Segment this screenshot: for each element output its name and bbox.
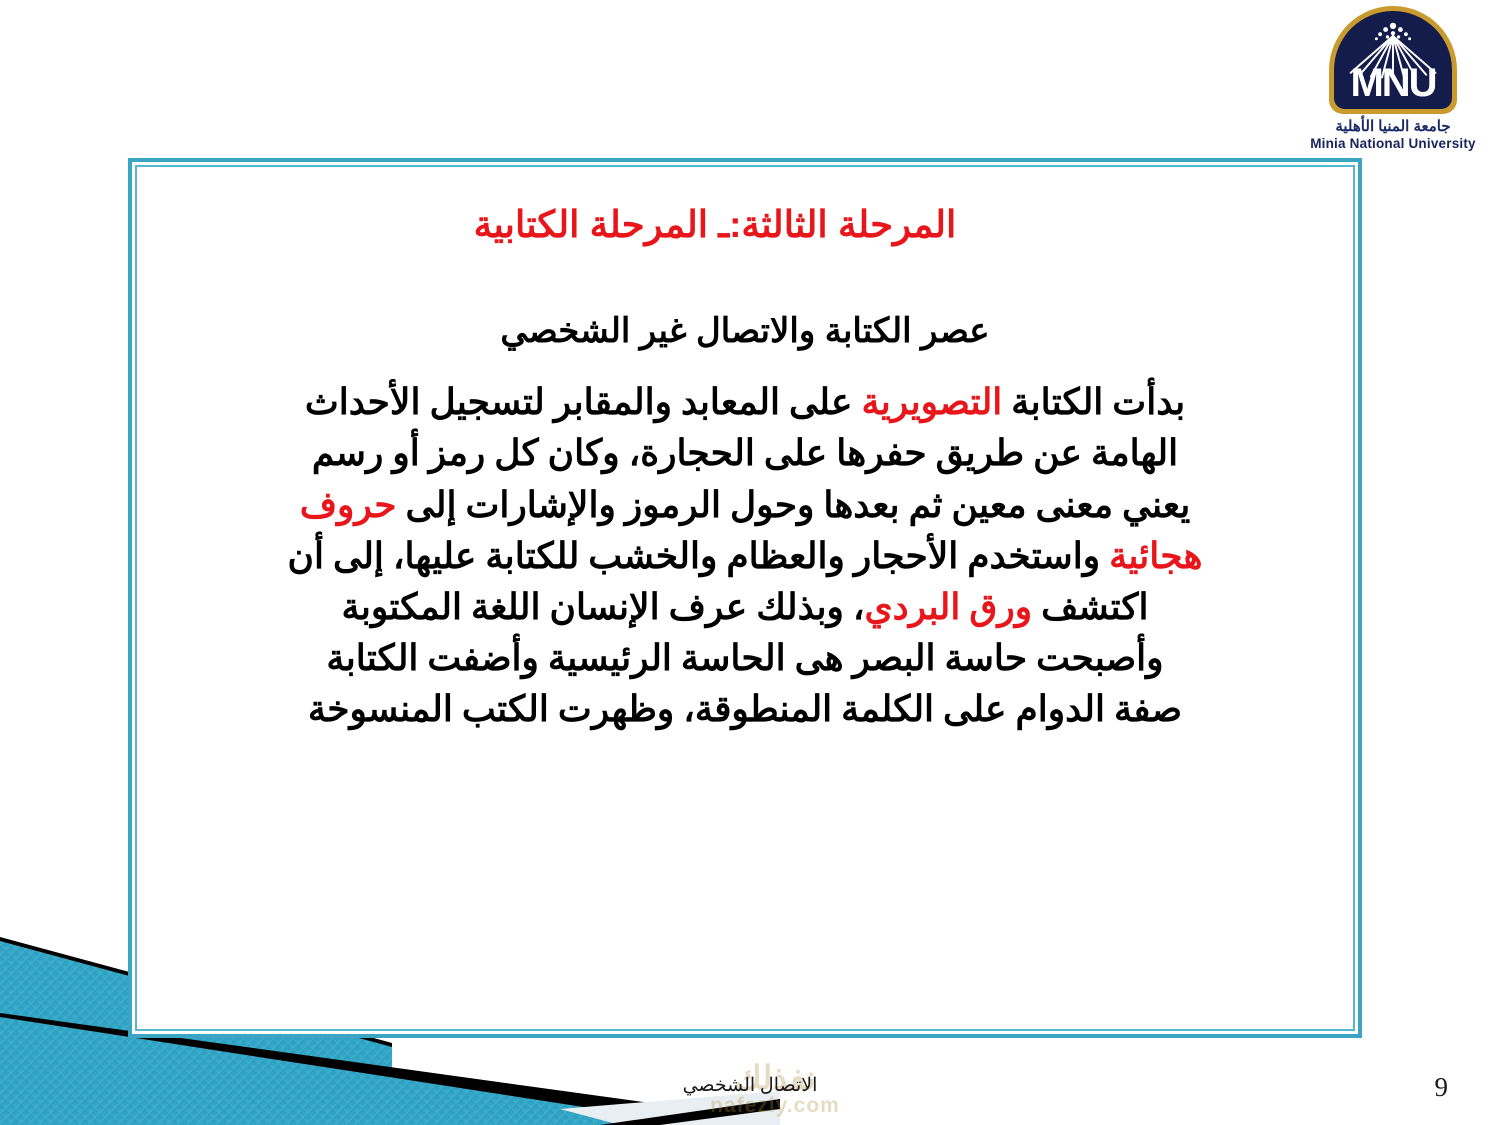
body-line: الهامة عن طريق حفرها على الحجارة، وكان ك… — [178, 428, 1312, 479]
watermark-text-english: nafezly.com — [660, 1094, 890, 1117]
body-text-run: يعني معنى معين ثم بعدها وحول الرموز والإ… — [397, 485, 1191, 525]
slide-title: المرحلة الثالثة:ـ المرحلة الكتابية — [172, 204, 1318, 247]
body-text-run: صفة الدوام على الكلمة المنطوقة، وظهرت ال… — [308, 689, 1182, 729]
body-text-run: الهامة عن طريق حفرها على الحجارة، وكان ك… — [312, 433, 1178, 473]
highlighted-term: التصويرية — [861, 382, 1002, 422]
body-text-run: على المعابد والمقابر لتسجيل الأحداث — [305, 382, 862, 422]
body-text-run: ، وبذلك عرف الإنسان اللغة المكتوبة — [342, 587, 865, 627]
university-logo: MNU جامعة المنيا الأهلية Minia National … — [1302, 6, 1484, 158]
slide-content: المرحلة الثالثة:ـ المرحلة الكتابية عصر ا… — [132, 162, 1358, 1034]
body-line: اكتشف ورق البردي، وبذلك عرف الإنسان اللغ… — [178, 582, 1312, 633]
logo-navy-field: MNU — [1334, 11, 1452, 109]
body-line: وأصبحت حاسة البصر هى الحاسة الرئيسية وأض… — [178, 633, 1312, 684]
highlighted-term: حروف — [300, 485, 397, 525]
logo-badge-shield: MNU — [1329, 6, 1457, 114]
deco-black-sliver — [600, 1099, 780, 1125]
body-text-run: بدأت الكتابة — [1002, 382, 1185, 422]
body-line: بدأت الكتابة التصويرية على المعابد والمق… — [178, 377, 1312, 428]
presentation-slide: MNU جامعة المنيا الأهلية Minia National … — [0, 0, 1500, 1125]
body-line: يعني معنى معين ثم بعدها وحول الرموز والإ… — [178, 480, 1312, 531]
logo-name-arabic: جامعة المنيا الأهلية — [1302, 117, 1484, 135]
highlighted-term: هجائية — [1109, 536, 1202, 576]
slide-body-text: بدأت الكتابة التصويرية على المعابد والمق… — [172, 377, 1318, 735]
body-line: صفة الدوام على الكلمة المنطوقة، وظهرت ال… — [178, 684, 1312, 735]
body-text-run: اكتشف — [1032, 587, 1148, 627]
slide-footer-note: الاتصال الشخصي — [0, 1074, 1500, 1097]
slide-subtitle: عصر الكتابة والاتصال غير الشخصي — [172, 311, 1318, 352]
body-text-run: واستخدم الأحجار والعظام والخشب للكتابة ع… — [288, 536, 1110, 576]
logo-name-english: Minia National University — [1302, 136, 1484, 151]
body-text-run: وأصبحت حاسة البصر هى الحاسة الرئيسية وأض… — [326, 638, 1163, 678]
body-line: هجائية واستخدم الأحجار والعظام والخشب لل… — [178, 531, 1312, 582]
slide-page-number: 9 — [1435, 1072, 1449, 1103]
logo-monogram: MNU — [1334, 63, 1452, 103]
slide-content-frame: المرحلة الثالثة:ـ المرحلة الكتابية عصر ا… — [128, 158, 1362, 1038]
highlighted-term: ورق البردي — [864, 587, 1032, 627]
